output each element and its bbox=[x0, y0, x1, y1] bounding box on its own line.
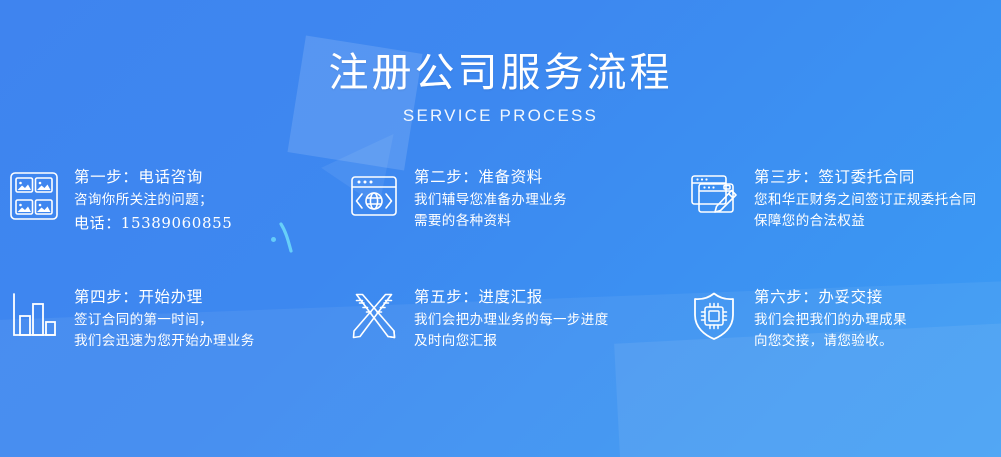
step-item-3[interactable]: 第三步：签订委托合同 您和华正财务之间签订正规委托合同 保障您的合法权益 bbox=[680, 163, 1001, 283]
step-item-4[interactable]: 第四步：开始办理 签订合同的第一时间， 我们会迅速为您开始办理业务 bbox=[0, 283, 340, 403]
service-process-banner: 注册公司服务流程 SERVICE PROCESS bbox=[0, 0, 1001, 457]
step-title: 第三步：签订委托合同 bbox=[754, 165, 976, 189]
step-line: 需要的各种资料 bbox=[414, 210, 567, 231]
banner-header: 注册公司服务流程 SERVICE PROCESS bbox=[0, 46, 1001, 126]
step-title: 第六步：办妥交接 bbox=[754, 285, 907, 309]
bar-chart-icon bbox=[8, 290, 60, 342]
step-line: 您和华正财务之间签订正规委托合同 bbox=[754, 189, 976, 210]
photo-grid-icon bbox=[8, 170, 60, 222]
step-line: 签订合同的第一时间， bbox=[74, 309, 255, 330]
step-line: 及时向您汇报 bbox=[414, 330, 609, 351]
step-line: 向您交接，请您验收。 bbox=[754, 330, 907, 351]
step-line: 我们会把我们的办理成果 bbox=[754, 309, 907, 330]
step-line: 我们辅导您准备办理业务 bbox=[414, 189, 567, 210]
step-title: 第五步：进度汇报 bbox=[414, 285, 609, 309]
step-item-2[interactable]: 第二步：准备资料 我们辅导您准备办理业务 需要的各种资料 bbox=[340, 163, 680, 283]
step-phone-line[interactable]: 电话：15389060855 bbox=[74, 210, 232, 236]
step-title: 第二步：准备资料 bbox=[414, 165, 567, 189]
step-text-4: 第四步：开始办理 签订合同的第一时间， 我们会迅速为您开始办理业务 bbox=[74, 283, 255, 351]
step-text-6: 第六步：办妥交接 我们会把我们的办理成果 向您交接，请您验收。 bbox=[754, 283, 907, 351]
step-line: 保障您的合法权益 bbox=[754, 210, 976, 231]
step-text-3: 第三步：签订委托合同 您和华正财务之间签订正规委托合同 保障您的合法权益 bbox=[754, 163, 976, 231]
stacked-windows-pen-icon bbox=[688, 170, 740, 222]
step-line: 我们会迅速为您开始办理业务 bbox=[74, 330, 255, 351]
step-title: 第一步：电话咨询 bbox=[74, 165, 232, 189]
step-item-6[interactable]: 第六步：办妥交接 我们会把我们的办理成果 向您交接，请您验收。 bbox=[680, 283, 1001, 403]
step-item-1[interactable]: 第一步：电话咨询 咨询你所关注的问题； 电话：15389060855 bbox=[0, 163, 340, 283]
step-item-5[interactable]: 第五步：进度汇报 我们会把办理业务的每一步进度 及时向您汇报 bbox=[340, 283, 680, 403]
page-subtitle: SERVICE PROCESS bbox=[0, 106, 1001, 126]
shield-chip-icon bbox=[688, 290, 740, 342]
step-text-5: 第五步：进度汇报 我们会把办理业务的每一步进度 及时向您汇报 bbox=[414, 283, 609, 351]
page-title: 注册公司服务流程 bbox=[0, 46, 1001, 100]
step-text-1: 第一步：电话咨询 咨询你所关注的问题； 电话：15389060855 bbox=[74, 163, 232, 236]
step-line: 我们会把办理业务的每一步进度 bbox=[414, 309, 609, 330]
step-text-2: 第二步：准备资料 我们辅导您准备办理业务 需要的各种资料 bbox=[414, 163, 567, 231]
steps-grid: 第一步：电话咨询 咨询你所关注的问题； 电话：15389060855 bbox=[0, 163, 1001, 403]
step-line: 咨询你所关注的问题； bbox=[74, 189, 232, 210]
step-title: 第四步：开始办理 bbox=[74, 285, 255, 309]
browser-globe-code-icon bbox=[348, 170, 400, 222]
pencil-ruler-cross-icon bbox=[348, 290, 400, 342]
